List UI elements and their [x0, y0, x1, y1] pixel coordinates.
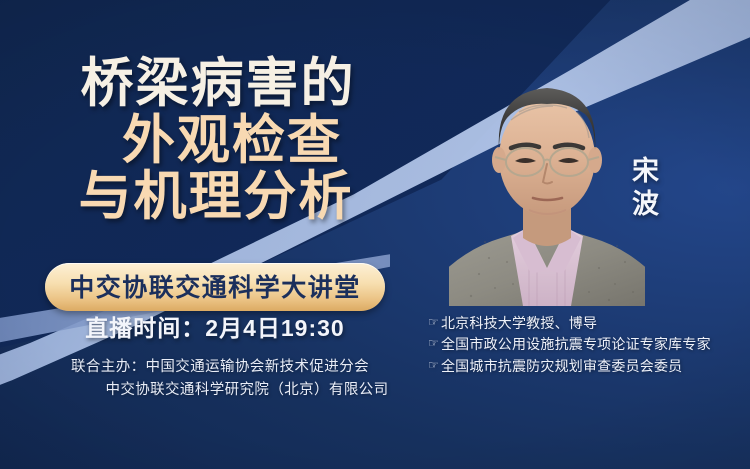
poster-title: 桥梁病害的 外观检查 与机理分析 — [0, 56, 430, 226]
series-badge-container: 中交协联交通科学大讲堂 — [0, 263, 430, 311]
organizer-line-2: 中交协联交通科学研究院（北京）有限公司 — [0, 379, 438, 402]
credential-row: ☞ 全国市政公用设施抗震专项论证专家库专家 — [428, 334, 711, 355]
series-badge: 中交协联交通科学大讲堂 — [45, 263, 385, 311]
speaker-credentials: ☞ 北京科技大学教授、博导 ☞ 全国市政公用设施抗震专项论证专家库专家 ☞ 全国… — [428, 313, 711, 377]
webinar-poster: 桥梁病害的 外观检查 与机理分析 中交协联交通科学大讲堂 直播时间：2月4日19… — [0, 0, 750, 469]
credential-text: 全国城市抗震防灾规划审查委员会委员 — [441, 356, 682, 377]
title-line-3: 与机理分析 — [2, 169, 430, 226]
speaker-name-char-2: 波 — [632, 188, 660, 221]
pointing-hand-icon: ☞ — [428, 356, 439, 375]
speaker-name: 宋 波 — [632, 155, 660, 221]
organizer-line-1: 联合主办：中国交通运输协会新技术促进分会 — [0, 356, 438, 379]
credential-row: ☞ 全国城市抗震防灾规划审查委员会委员 — [428, 356, 711, 377]
live-time: 直播时间：2月4日19:30 — [0, 309, 430, 343]
credential-text: 北京科技大学教授、博导 — [441, 313, 597, 334]
credential-text: 全国市政公用设施抗震专项论证专家库专家 — [441, 334, 711, 355]
speaker-portrait — [449, 62, 645, 306]
title-line-2: 外观检查 — [34, 113, 430, 170]
title-line-1: 桥梁病害的 — [6, 56, 430, 113]
pointing-hand-icon: ☞ — [428, 313, 439, 332]
speaker-name-char-1: 宋 — [632, 155, 660, 188]
organizers: 联合主办：中国交通运输协会新技术促进分会 中交协联交通科学研究院（北京）有限公司 — [0, 356, 438, 403]
pointing-hand-icon: ☞ — [428, 334, 439, 353]
credential-row: ☞ 北京科技大学教授、博导 — [428, 313, 711, 334]
